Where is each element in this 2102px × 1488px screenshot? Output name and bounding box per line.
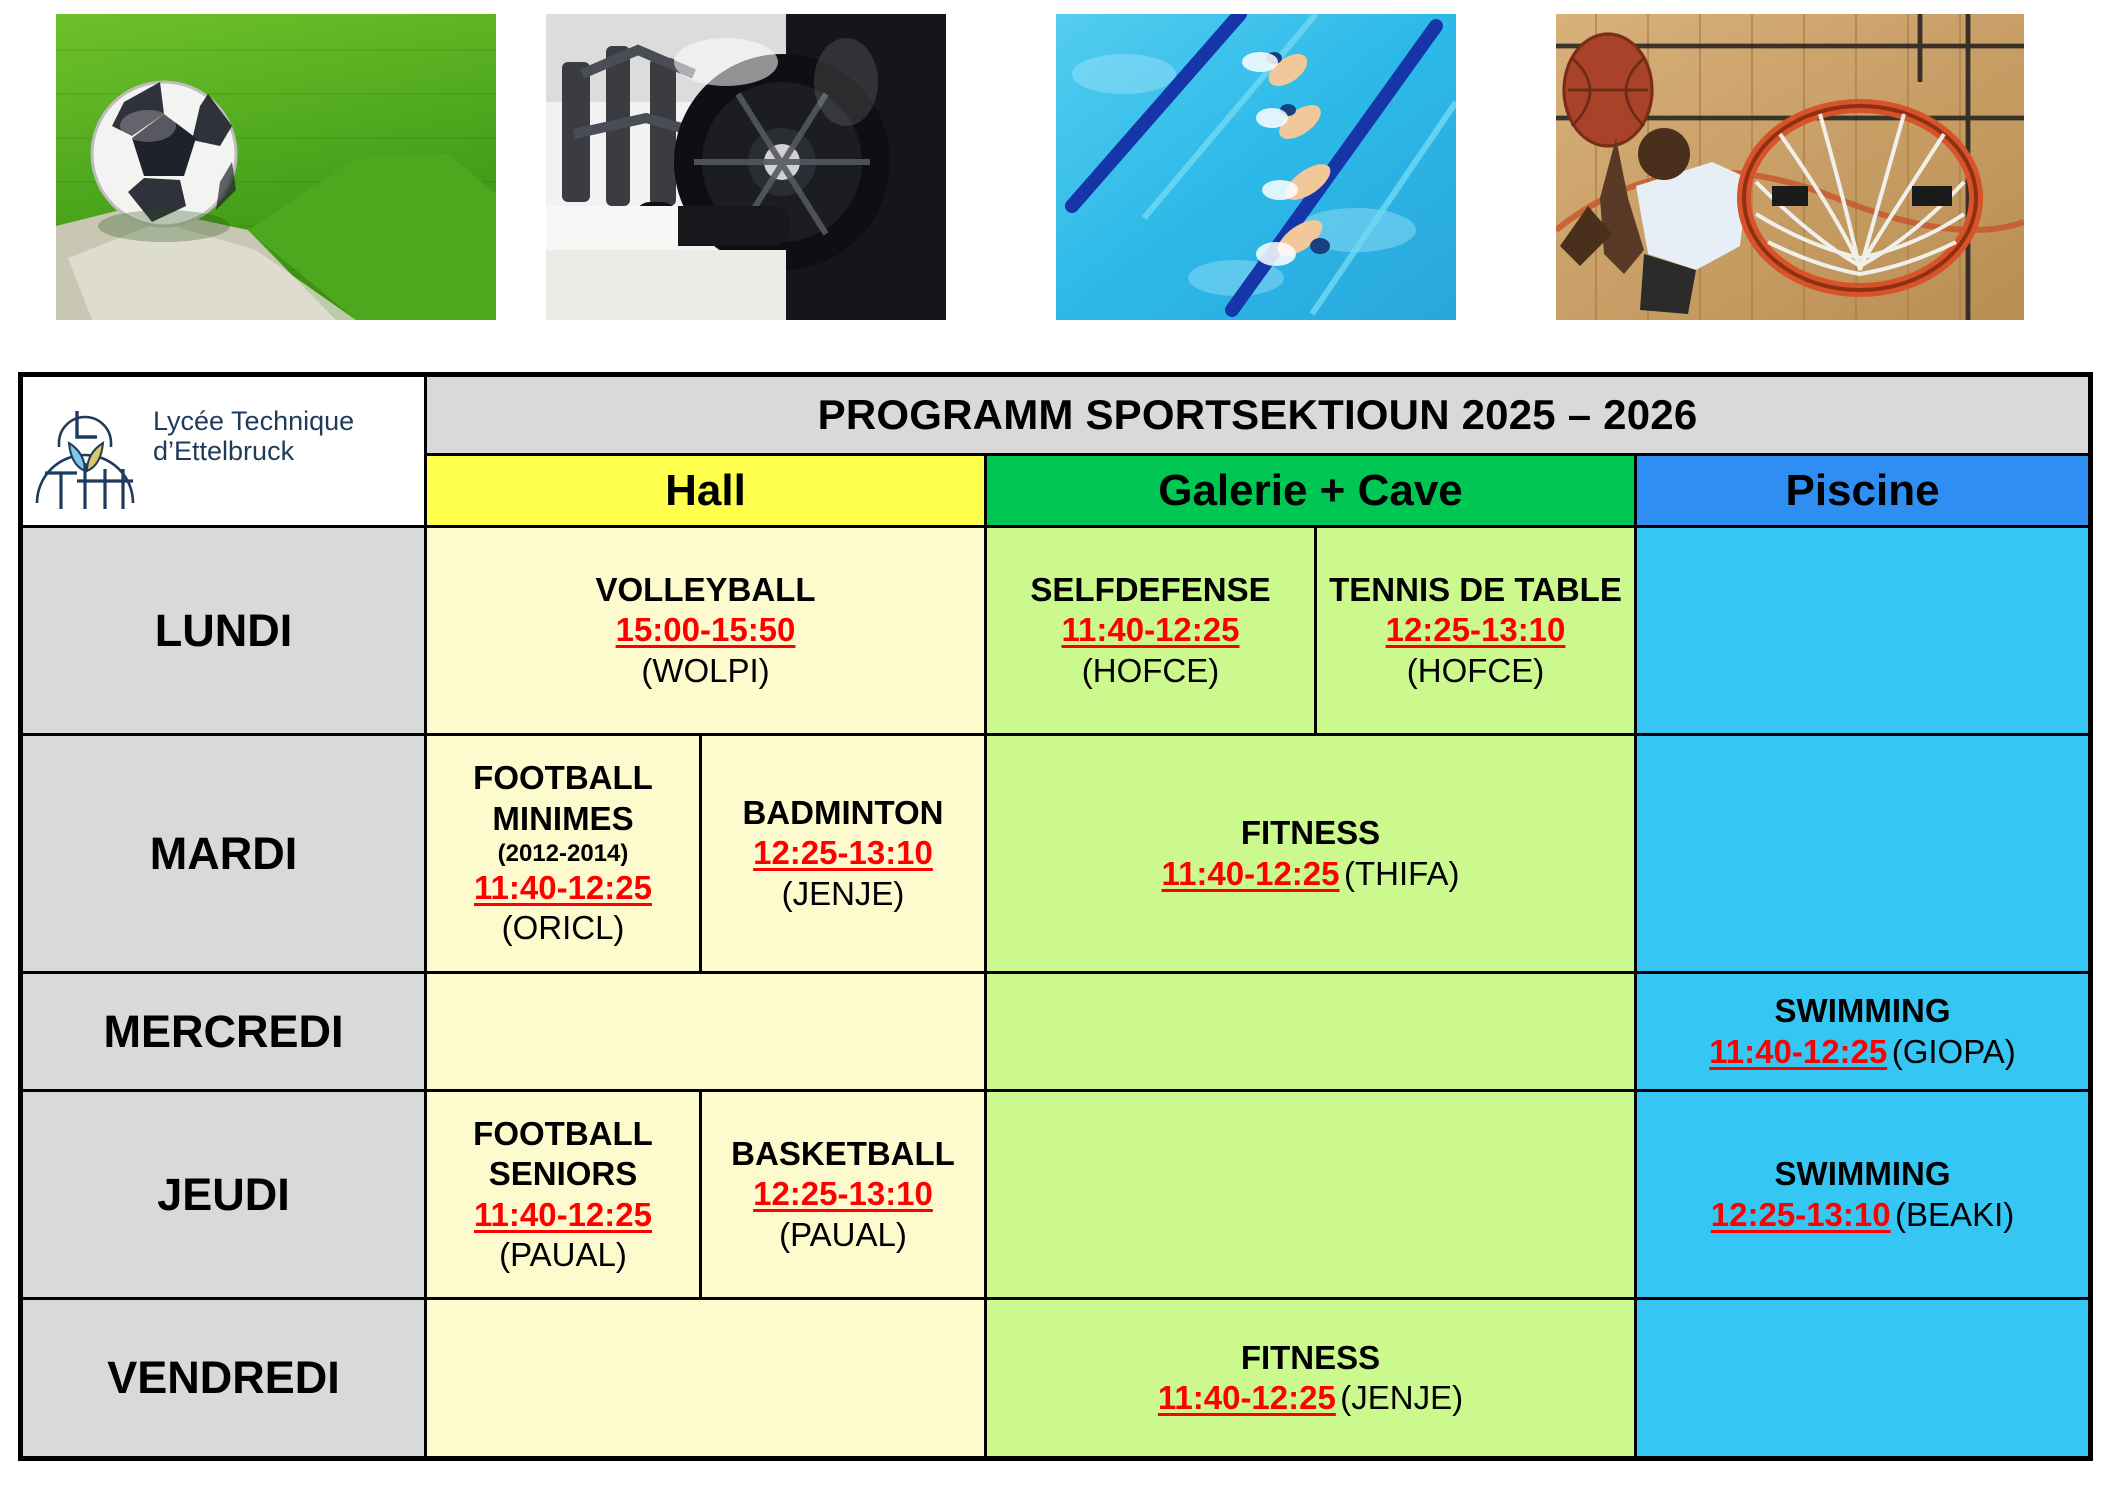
cell-mardi-galerie-cave[interactable]: FITNESS 11:40-12:25 (THIFA) xyxy=(986,735,1636,973)
day-label-lundi: LUNDI xyxy=(21,527,426,735)
table-row-lundi: LUNDI VOLLEYBALL 15:00-15:50 (WOLPI) SEL… xyxy=(21,527,2091,735)
activity-coach-football-seniors: (PAUAL) xyxy=(499,1236,627,1273)
activity-coach-swimming-jeudi: (BEAKI) xyxy=(1895,1196,2014,1233)
cell-jeudi-hall-a[interactable]: FOOTBALL SENIORS 11:40-12:25 (PAUAL) xyxy=(426,1091,701,1299)
activity-agegroup-football-minimes: (2012-2014) xyxy=(433,839,693,868)
activity-name-football-minimes-line1: FOOTBALL xyxy=(433,758,693,798)
cell-mercredi-piscine[interactable]: SWIMMING 11:40-12:25 (GIOPA) xyxy=(1636,973,2091,1091)
activity-name-volleyball: VOLLEYBALL xyxy=(433,570,978,610)
school-logo-cell: Lycée Technique d’Ettelbruck xyxy=(21,375,426,527)
cell-jeudi-piscine[interactable]: SWIMMING 12:25-13:10 (BEAKI) xyxy=(1636,1091,2091,1299)
school-name-line2: d’Ettelbruck xyxy=(153,437,354,467)
activity-time-volleyball: 15:00-15:50 xyxy=(616,611,796,648)
activity-name-badminton: BADMINTON xyxy=(708,793,978,833)
activity-coach-swimming-mercredi: (GIOPA) xyxy=(1892,1033,2016,1070)
day-label-mercredi: MERCREDI xyxy=(21,973,426,1091)
cell-vendredi-piscine[interactable] xyxy=(1636,1299,2091,1459)
cell-mardi-hall-a[interactable]: FOOTBALL MINIMES (2012-2014) 11:40-12:25… xyxy=(426,735,701,973)
cell-mardi-hall-b[interactable]: BADMINTON 12:25-13:10 (JENJE) xyxy=(701,735,986,973)
day-label-jeudi: JEUDI xyxy=(21,1091,426,1299)
cell-jeudi-hall-b[interactable]: BASKETBALL 12:25-13:10 (PAUAL) xyxy=(701,1091,986,1299)
activity-coach-fitness-mardi: (THIFA) xyxy=(1344,855,1459,892)
page-title: PROGRAMM SPORTSEKTIOUN 2025 – 2026 xyxy=(426,375,2091,455)
cell-mercredi-galerie-cave[interactable] xyxy=(986,973,1636,1091)
activity-coach-badminton: (JENJE) xyxy=(782,875,905,912)
activity-time-football-minimes: 11:40-12:25 xyxy=(474,869,652,906)
gym-photo xyxy=(546,14,946,320)
football-photo xyxy=(56,14,496,320)
activity-time-basketball: 12:25-13:10 xyxy=(753,1175,933,1212)
activity-name-basketball: BASKETBALL xyxy=(708,1134,978,1174)
cell-jeudi-galerie-cave[interactable] xyxy=(986,1091,1636,1299)
activity-time-football-seniors: 11:40-12:25 xyxy=(474,1196,652,1233)
cell-vendredi-galerie-cave[interactable]: FITNESS 11:40-12:25 (JENJE) xyxy=(986,1299,1636,1459)
table-row-mardi: MARDI FOOTBALL MINIMES (2012-2014) 11:40… xyxy=(21,735,2091,973)
activity-name-tennis-de-table: TENNIS DE TABLE xyxy=(1323,570,1628,610)
table-row-vendredi: VENDREDI FITNESS 11:40-12:25 (JENJE) xyxy=(21,1299,2091,1459)
basketball-photo xyxy=(1556,14,2024,320)
activity-coach-fitness-vendredi: (JENJE) xyxy=(1340,1379,1463,1416)
activity-time-badminton: 12:25-13:10 xyxy=(753,834,933,871)
activity-name-swimming-jeudi: SWIMMING xyxy=(1643,1154,2082,1194)
venue-header-piscine: Piscine xyxy=(1636,455,2091,527)
activity-name-football-seniors-line1: FOOTBALL xyxy=(433,1114,693,1154)
activity-time-swimming-mercredi: 11:40-12:25 xyxy=(1709,1033,1887,1070)
activity-name-fitness-vendredi: FITNESS xyxy=(993,1338,1628,1378)
cell-lundi-cave[interactable]: TENNIS DE TABLE 12:25-13:10 (HOFCE) xyxy=(1316,527,1636,735)
table-row-mercredi: MERCREDI SWIMMING 11:40-12:25 (GIOPA) xyxy=(21,973,2091,1091)
activity-coach-selfdefense: (HOFCE) xyxy=(1082,652,1219,689)
activity-time-tennis-de-table: 12:25-13:10 xyxy=(1386,611,1566,648)
activity-name-swimming-mercredi: SWIMMING xyxy=(1643,991,2082,1031)
activity-coach-football-minimes: (ORICL) xyxy=(502,909,625,946)
venue-header-galerie-cave: Galerie + Cave xyxy=(986,455,1636,527)
ltett-logo-icon xyxy=(23,385,149,518)
activity-time-swimming-jeudi: 12:25-13:10 xyxy=(1711,1196,1891,1233)
table-row-jeudi: JEUDI FOOTBALL SENIORS 11:40-12:25 (PAUA… xyxy=(21,1091,2091,1299)
cell-mardi-piscine[interactable] xyxy=(1636,735,2091,973)
activity-name-fitness-mardi: FITNESS xyxy=(993,813,1628,853)
activity-time-selfdefense: 11:40-12:25 xyxy=(1062,611,1240,648)
activity-name-selfdefense: SELFDEFENSE xyxy=(993,570,1308,610)
activity-name-football-seniors-line2: SENIORS xyxy=(433,1154,693,1194)
venue-header-hall: Hall xyxy=(426,455,986,527)
cell-vendredi-hall[interactable] xyxy=(426,1299,986,1459)
day-label-vendredi: VENDREDI xyxy=(21,1299,426,1459)
activity-coach-basketball: (PAUAL) xyxy=(779,1216,907,1253)
school-name-line1: Lycée Technique xyxy=(153,407,354,437)
table-header-title-row: Lycée Technique d’Ettelbruck PROGRAMM SP… xyxy=(21,375,2091,455)
swimming-photo xyxy=(1056,14,1456,320)
cell-lundi-piscine[interactable] xyxy=(1636,527,2091,735)
schedule-table-wrapper: Lycée Technique d’Ettelbruck PROGRAMM SP… xyxy=(18,372,2088,1461)
day-label-mardi: MARDI xyxy=(21,735,426,973)
cell-lundi-hall[interactable]: VOLLEYBALL 15:00-15:50 (WOLPI) xyxy=(426,527,986,735)
school-name: Lycée Technique d’Ettelbruck xyxy=(153,407,354,494)
activity-time-fitness-mardi: 11:40-12:25 xyxy=(1162,855,1340,892)
activity-coach-tennis-de-table: (HOFCE) xyxy=(1407,652,1544,689)
activity-time-fitness-vendredi: 11:40-12:25 xyxy=(1158,1379,1336,1416)
cell-lundi-galerie[interactable]: SELFDEFENSE 11:40-12:25 (HOFCE) xyxy=(986,527,1316,735)
photo-strip xyxy=(0,0,2102,330)
sport-schedule-table: Lycée Technique d’Ettelbruck PROGRAMM SP… xyxy=(18,372,2093,1461)
cell-mercredi-hall[interactable] xyxy=(426,973,986,1091)
activity-name-football-minimes-line2: MINIMES xyxy=(433,799,693,839)
activity-coach-volleyball: (WOLPI) xyxy=(641,652,769,689)
